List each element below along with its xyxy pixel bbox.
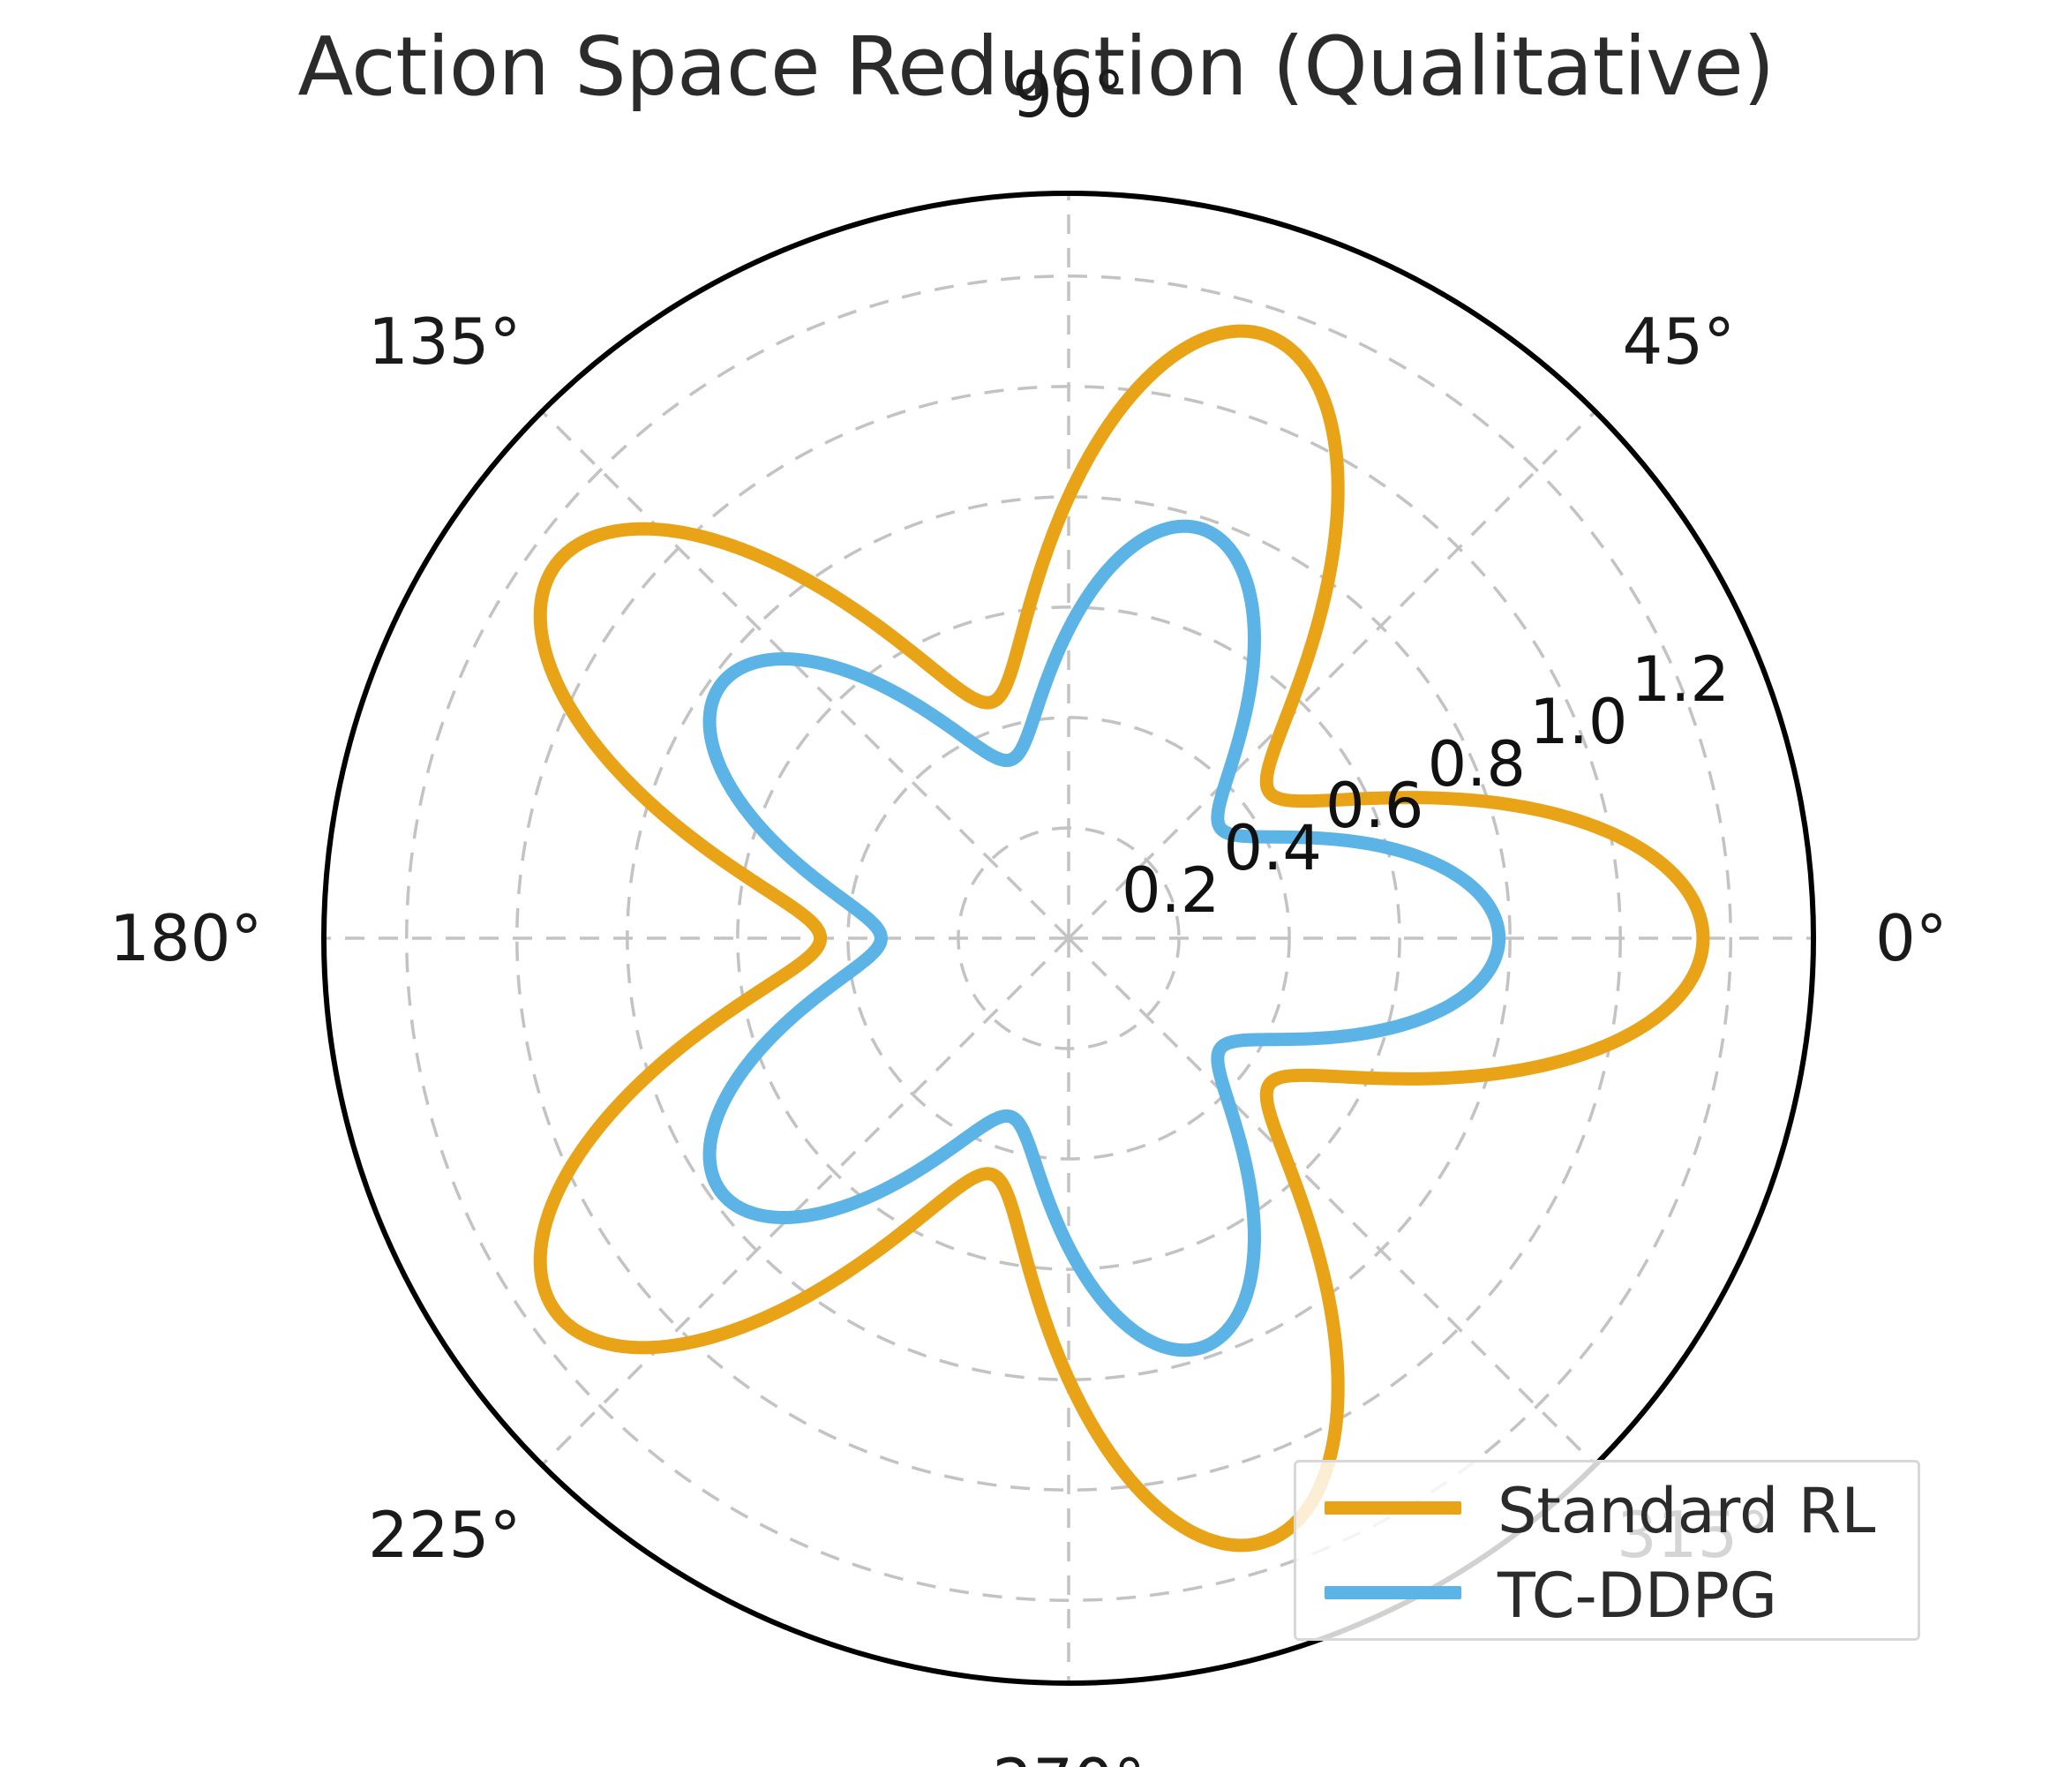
legend-item-tc-ddpg[interactable]: TC-DDPG [1296, 1553, 1918, 1632]
angle-tick-135: 135° [368, 305, 521, 379]
legend-label-tc-ddpg: TC-DDPG [1498, 1560, 1777, 1632]
angle-tick-0: 0° [1875, 901, 1948, 975]
legend-swatch-tc-ddpg [1325, 1586, 1461, 1599]
radial-tick-0-8: 0.8 [1428, 728, 1526, 801]
legend-label-standard-rl: Standard RL [1498, 1475, 1875, 1547]
angle-tick-90: 90° [1012, 57, 1125, 132]
angle-tick-270: 270° [993, 1745, 1145, 1767]
angle-tick-225: 225° [368, 1498, 521, 1572]
chart-legend[interactable]: Standard RL TC-DDPG [1294, 1460, 1920, 1641]
radial-tick-1-2: 1.2 [1632, 643, 1730, 716]
polar-chart-figure: Action Space Reduction (Qualitative) 0°4… [0, 0, 2072, 1767]
angular-gridline [542, 411, 1069, 938]
radial-tick-0-4: 0.4 [1224, 812, 1322, 884]
angle-tick-180: 180° [109, 901, 262, 975]
legend-item-standard-rl[interactable]: Standard RL [1296, 1468, 1918, 1547]
radial-tick-0-6: 0.6 [1325, 770, 1423, 842]
radial-tick-1: 1.0 [1529, 686, 1627, 758]
radial-tick-0-2: 0.2 [1122, 854, 1220, 927]
angular-gridline [542, 938, 1069, 1465]
angle-tick-45: 45° [1623, 305, 1736, 379]
legend-swatch-standard-rl [1325, 1501, 1461, 1515]
